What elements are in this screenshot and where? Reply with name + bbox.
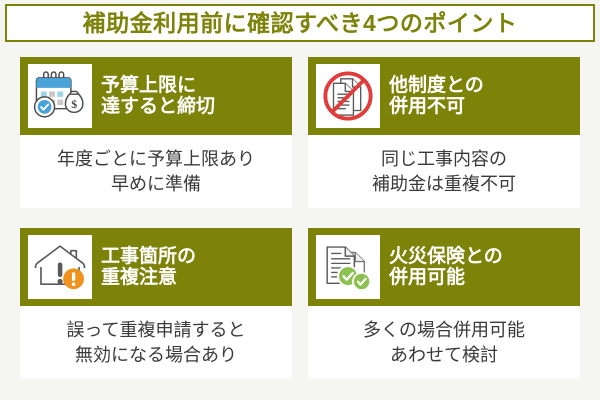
point-card-4-body: 多くの場合併用可能 あわせて検討 bbox=[308, 306, 580, 379]
points-grid: $ 予算上限に 達すると締切 年度ごとに予算上限あり 早めに準備 bbox=[20, 57, 580, 382]
documents-approved-icon bbox=[316, 235, 380, 299]
point-card-3-body-text: 誤って重複申請すると 無効になる場合あり bbox=[62, 318, 249, 367]
point-card-4: 火災保険との 併用可能 多くの場合併用可能 あわせて検討 bbox=[308, 228, 580, 379]
page-title-bar: 補助金利用前に確認すべき4つのポイント bbox=[5, 4, 595, 42]
point-card-4-title: 火災保険との 併用可能 bbox=[389, 246, 574, 289]
house-warning-icon bbox=[28, 235, 92, 299]
point-card-1-title: 予算上限に 達すると締切 bbox=[101, 75, 286, 118]
point-card-3-title: 工事箇所の 重複注意 bbox=[101, 246, 286, 289]
point-card-1-body: 年度ごとに予算上限あり 早めに準備 bbox=[20, 135, 292, 208]
point-card-3-body: 誤って重複申請すると 無効になる場合あり bbox=[20, 306, 292, 379]
point-card-4-header: 火災保険との 併用可能 bbox=[308, 228, 580, 306]
point-card-2-header: 他制度との 併用不可 bbox=[308, 57, 580, 135]
point-card-1: $ 予算上限に 達すると締切 年度ごとに予算上限あり 早めに準備 bbox=[20, 57, 292, 208]
point-card-1-header: $ 予算上限に 達すると締切 bbox=[20, 57, 292, 135]
point-card-3-header: 工事箇所の 重複注意 bbox=[20, 228, 292, 306]
point-card-2-body: 同じ工事内容の 補助金は重複不可 bbox=[308, 135, 580, 208]
point-card-1-body-text: 年度ごとに予算上限あり 早めに準備 bbox=[53, 147, 259, 196]
point-card-2-title: 他制度との 併用不可 bbox=[389, 75, 574, 118]
infographic-page: 補助金利用前に確認すべき4つのポイント bbox=[0, 0, 600, 400]
no-documents-icon bbox=[316, 64, 380, 128]
page-title: 補助金利用前に確認すべき4つのポイント bbox=[83, 12, 518, 35]
point-card-4-body-text: 多くの場合併用可能 あわせて検討 bbox=[359, 318, 529, 367]
svg-text:$: $ bbox=[71, 98, 77, 111]
point-card-2: 他制度との 併用不可 同じ工事内容の 補助金は重複不可 bbox=[308, 57, 580, 208]
point-card-2-body-text: 同じ工事内容の 補助金は重複不可 bbox=[368, 147, 520, 196]
calendar-money-icon: $ bbox=[28, 64, 92, 128]
point-card-3: 工事箇所の 重複注意 誤って重複申請すると 無効になる場合あり bbox=[20, 228, 292, 379]
